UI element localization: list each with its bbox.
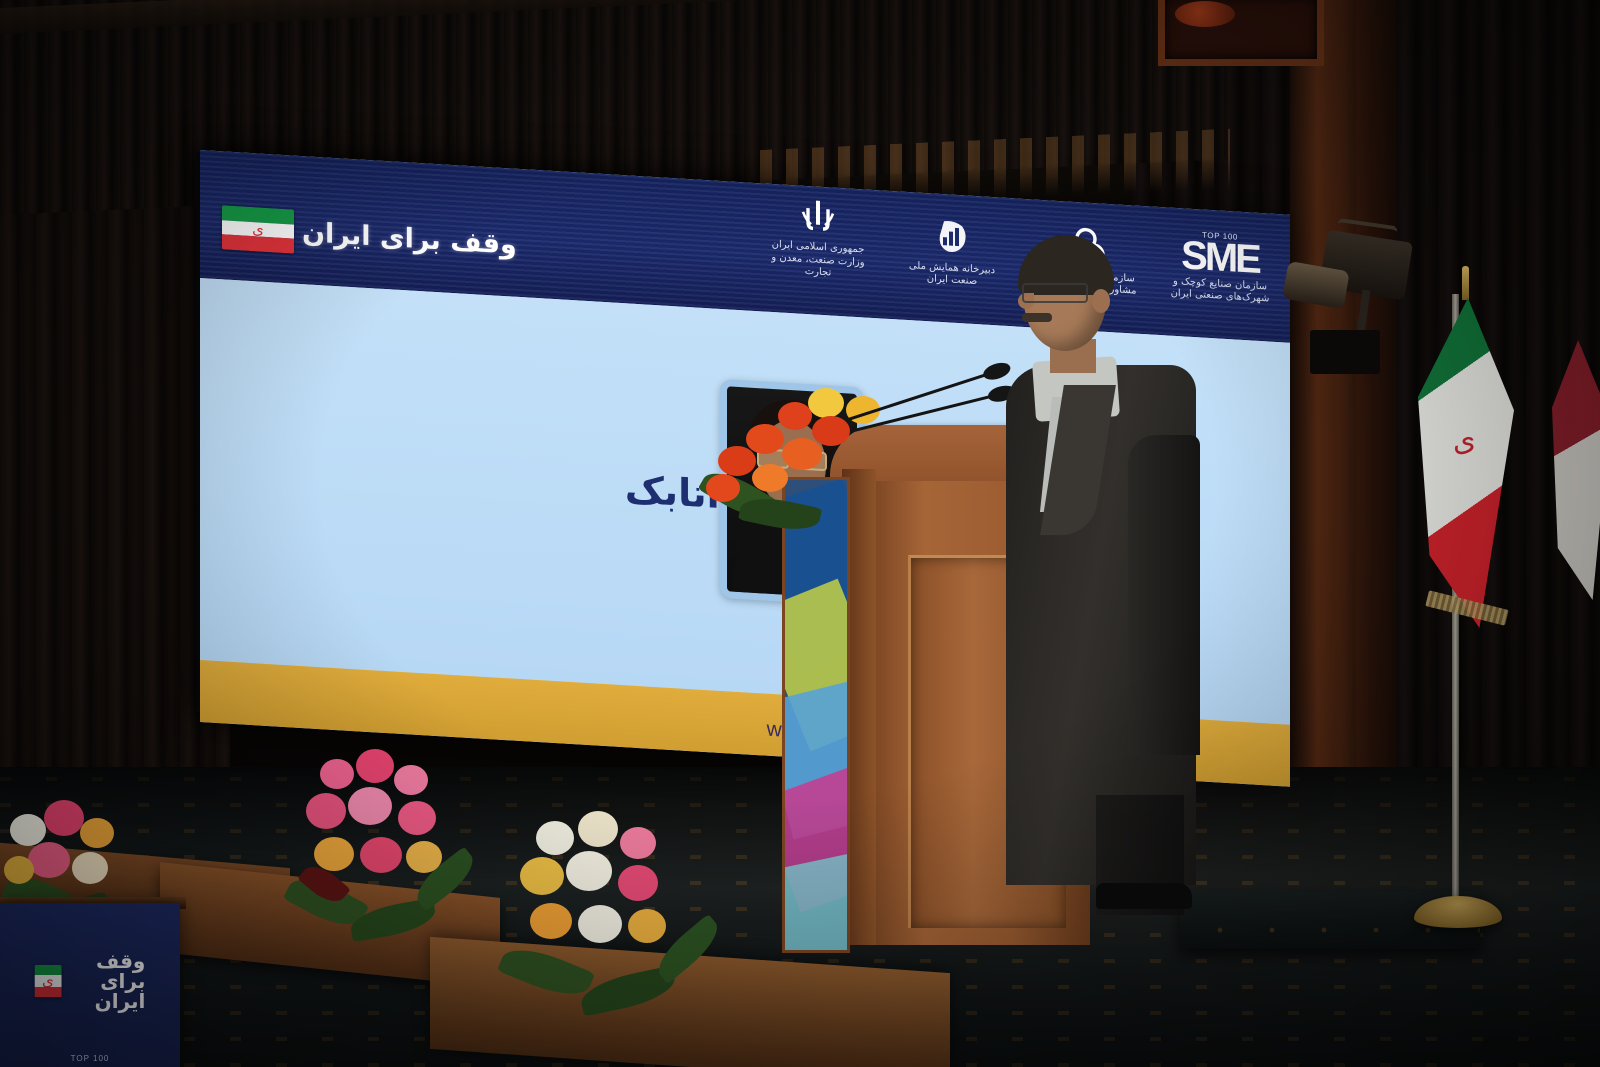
event-banner: ی وقف برای ایران TOP 100 [0,903,180,1067]
speaker-arm [1128,435,1200,755]
speaker-mustache [1022,313,1052,322]
ceremonial-flag [1552,300,1600,620]
stage-right-bouquet [500,805,730,1035]
speaker-ear [1092,289,1110,313]
stage-equipment-box [1310,330,1380,374]
event-banner-text: وقف برای ایران [67,951,145,1011]
iran-emblem-icon [801,192,835,240]
speaker-shoe [1096,883,1192,909]
flag-base-stand [1414,896,1502,928]
iran-flag [1418,298,1514,628]
sponsor-logo-ministry-caption: جمهوری اسلامی ایران وزارت صنعت، معدن و ت… [766,239,870,283]
ceremonial-flag-cloth [1552,340,1600,600]
stage-center-bouquet [290,745,500,960]
iran-map-factory-icon [932,212,972,260]
slide-brand-logo-text: وقف برای ایران [302,219,517,259]
iran-flag-emblem-icon: ی [1450,425,1477,458]
wall-framed-picture [1158,0,1324,66]
event-banner-subtitle: TOP 100 [71,1054,110,1063]
iran-flag-icon: ی [222,205,294,253]
flag-emblem-icon: ی [252,222,264,238]
iran-flag-stand: ی [1408,248,1528,948]
flag-emblem-icon: ی [42,974,54,989]
flag-finial-icon [1462,266,1469,300]
iran-flag-icon: ی [35,965,62,998]
event-banner-logo: ی وقف برای ایران [35,951,146,1011]
speaker-at-podium [1000,235,1210,915]
stage-scene: ی وقف برای ایران جمهوری اسلامی ایران وزا… [0,0,1600,1067]
sponsor-logo-ministry: جمهوری اسلامی ایران وزارت صنعت، معدن و ت… [766,190,870,283]
framed-picture-content [1175,1,1235,27]
podium-flower-garland [700,388,890,548]
sponsor-logo-conference: دبیرخانه همایش ملی صنعت ایران [900,210,1004,290]
speaker-glasses-icon [1022,283,1088,303]
stage-spotlight [1285,218,1425,338]
podium-event-poster [782,477,850,953]
